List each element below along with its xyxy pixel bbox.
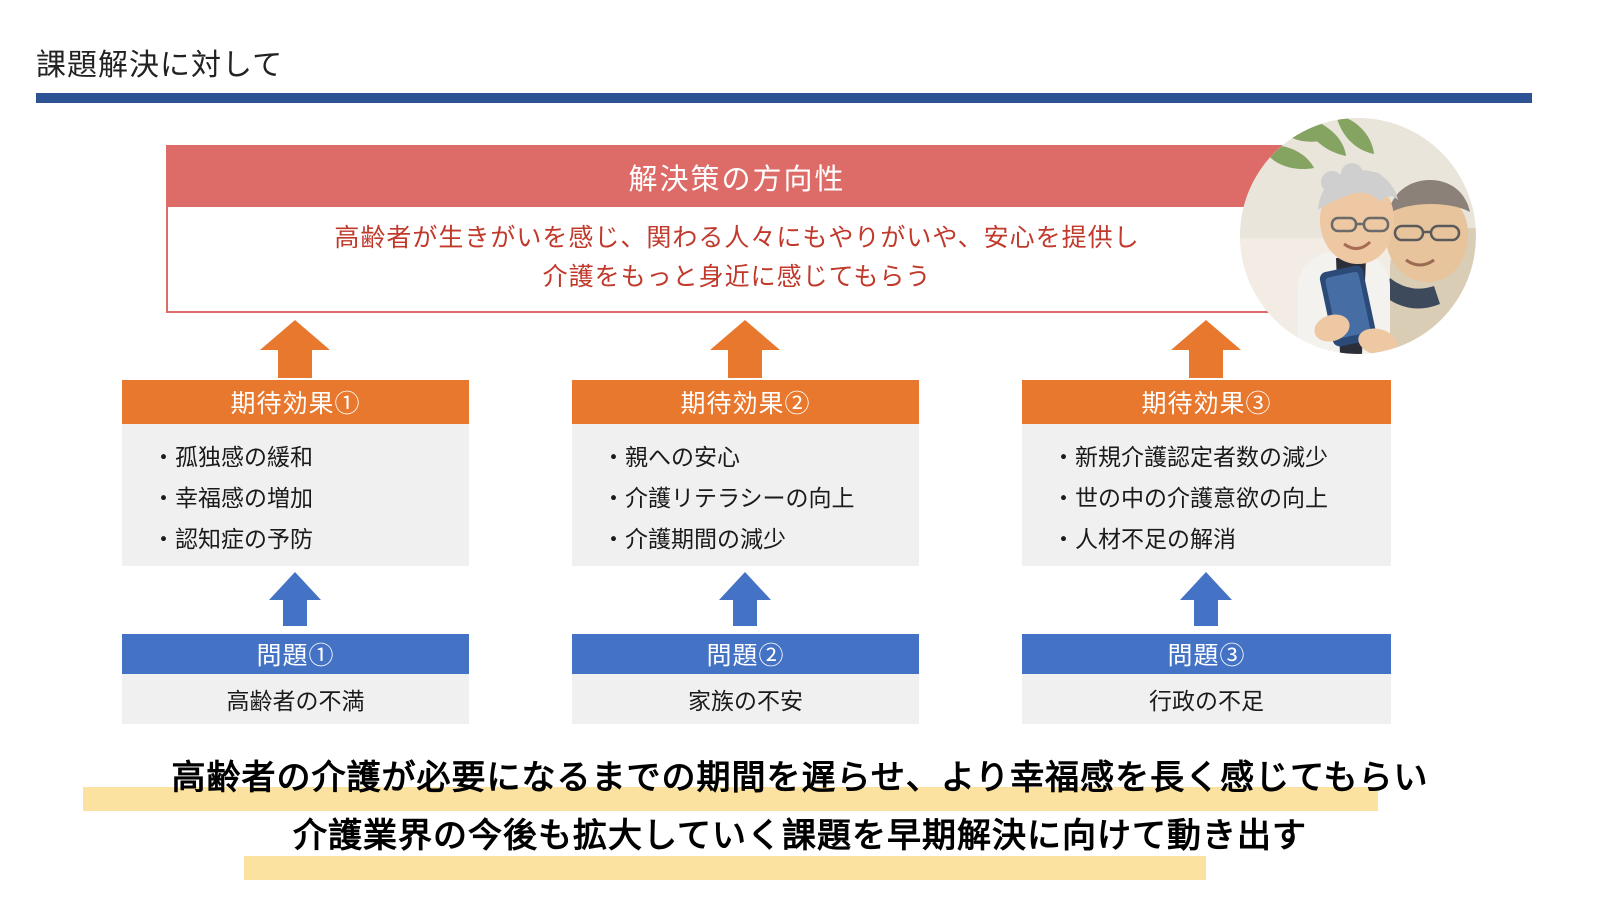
effect-card-2-title: 期待効果② — [572, 380, 919, 424]
arrow-up-problem-3-icon — [1180, 572, 1232, 626]
solution-direction-card: 解決策の方向性 高齢者が生きがいを感じ、関わる人々にもやりがいや、安心を提供し … — [166, 145, 1308, 313]
list-item: ・人材不足の解消 — [1052, 520, 1391, 561]
list-item: ・幸福感の増加 — [152, 479, 469, 520]
effect-card-1-title: 期待効果① — [122, 380, 469, 424]
solution-direction-header: 解決策の方向性 — [168, 147, 1306, 207]
problem-card-3-title: 問題③ — [1022, 634, 1391, 674]
effect-card-1: 期待効果① ・孤独感の緩和 ・幸福感の増加 ・認知症の予防 — [122, 380, 469, 566]
list-item: ・孤独感の緩和 — [152, 438, 469, 479]
arrow-up-problem-1-icon — [269, 572, 321, 626]
arrow-up-effect-2-icon — [710, 320, 780, 378]
effect-card-3-body: ・新規介護認定者数の減少 ・世の中の介護意欲の向上 ・人材不足の解消 — [1022, 424, 1391, 566]
problem-card-2-title: 問題② — [572, 634, 919, 674]
elderly-couple-photo — [1240, 118, 1476, 354]
problem-card-1-title: 問題① — [122, 634, 469, 674]
list-item: ・介護期間の減少 — [602, 520, 919, 561]
page-title: 課題解決に対して — [36, 40, 283, 84]
arrow-up-problem-2-icon — [719, 572, 771, 626]
list-item: ・親への安心 — [602, 438, 919, 479]
list-item: ・介護リテラシーの向上 — [602, 479, 919, 520]
arrow-up-effect-3-icon — [1171, 320, 1241, 378]
conclusion-line-2: 介護業界の今後も拡大していく課題を早期解決に向けて動き出す — [0, 808, 1600, 857]
problem-card-2-text: 家族の不安 — [572, 674, 919, 724]
effect-card-2: 期待効果② ・親への安心 ・介護リテラシーの向上 ・介護期間の減少 — [572, 380, 919, 566]
conclusion-line-1-text: 高齢者の介護が必要になるまでの期間を遅らせ、より幸福感を長く感じてもらい — [172, 760, 1429, 797]
problem-card-1-text: 高齢者の不満 — [122, 674, 469, 724]
title-divider-rule — [36, 93, 1532, 103]
conclusion-line-1: 高齢者の介護が必要になるまでの期間を遅らせ、より幸福感を長く感じてもらい — [0, 750, 1600, 799]
effect-card-3-title: 期待効果③ — [1022, 380, 1391, 424]
elderly-couple-photo-illustration — [1240, 118, 1476, 354]
problem-card-1: 問題① 高齢者の不満 — [122, 634, 469, 724]
solution-direction-body: 高齢者が生きがいを感じ、関わる人々にもやりがいや、安心を提供し 介護をもっと身近… — [168, 207, 1306, 311]
effect-card-3: 期待効果③ ・新規介護認定者数の減少 ・世の中の介護意欲の向上 ・人材不足の解消 — [1022, 380, 1391, 566]
effect-card-2-body: ・親への安心 ・介護リテラシーの向上 ・介護期間の減少 — [572, 424, 919, 566]
problem-card-3-text: 行政の不足 — [1022, 674, 1391, 724]
effect-card-1-body: ・孤独感の緩和 ・幸福感の増加 ・認知症の予防 — [122, 424, 469, 566]
list-item: ・新規介護認定者数の減少 — [1052, 438, 1391, 479]
conclusion-highlight-2 — [244, 856, 1206, 880]
problem-card-2: 問題② 家族の不安 — [572, 634, 919, 724]
list-item: ・認知症の予防 — [152, 520, 469, 561]
solution-body-line-1: 高齢者が生きがいを感じ、関わる人々にもやりがいや、安心を提供し — [334, 220, 1139, 259]
conclusion-line-2-text: 介護業界の今後も拡大していく課題を早期解決に向けて動き出す — [293, 818, 1307, 855]
arrow-up-effect-1-icon — [260, 320, 330, 378]
list-item: ・世の中の介護意欲の向上 — [1052, 479, 1391, 520]
solution-body-line-2: 介護をもっと身近に感じてもらう — [543, 259, 932, 298]
problem-card-3: 問題③ 行政の不足 — [1022, 634, 1391, 724]
